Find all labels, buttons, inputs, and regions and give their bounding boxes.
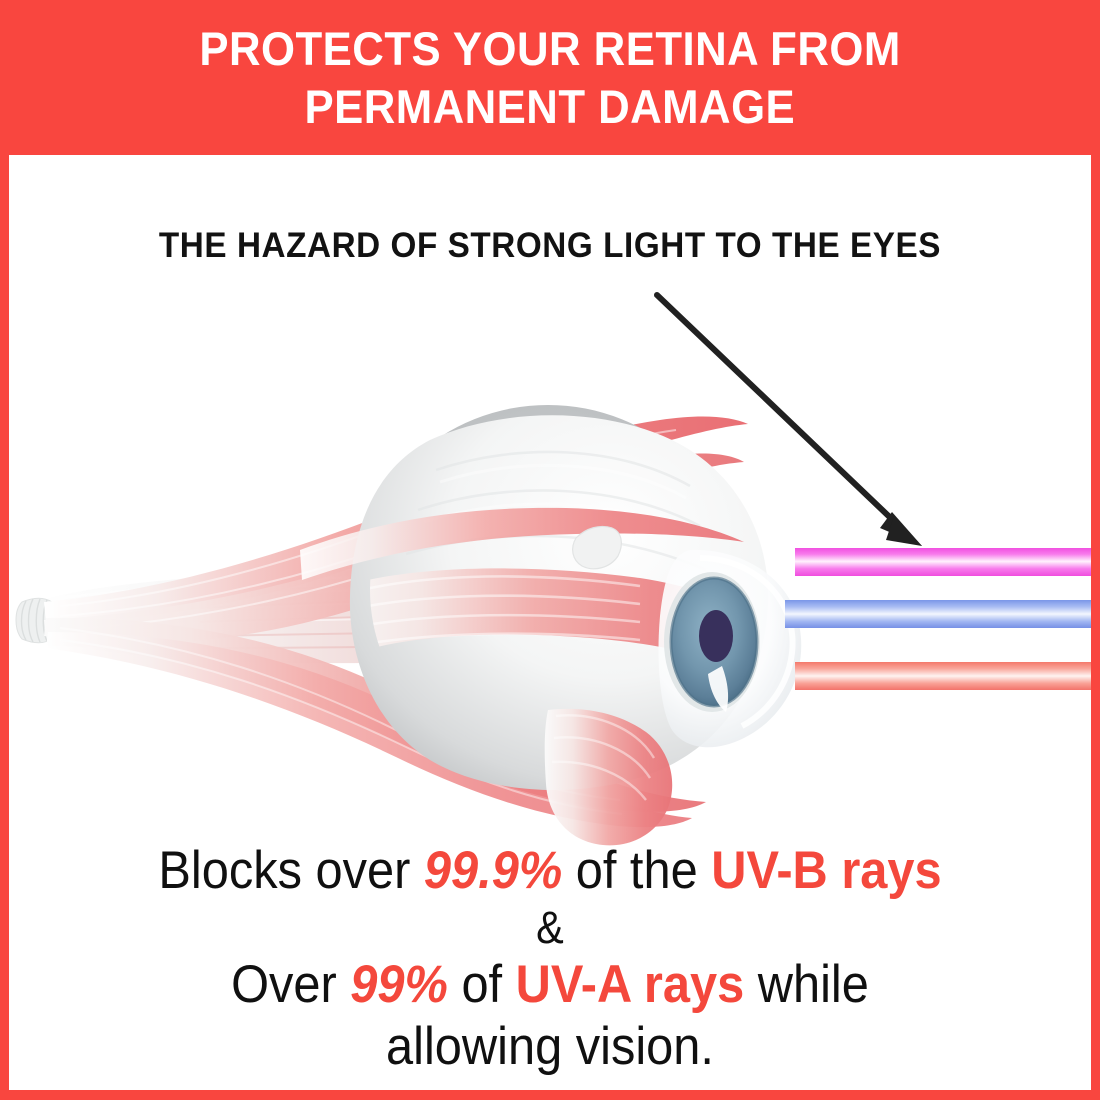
sub-headline: THE HAZARD OF STRONG LIGHT TO THE EYES <box>28 226 1073 266</box>
claim-uva-percent: 99% <box>350 955 448 1014</box>
claim-uvb-middle: of the <box>562 841 711 900</box>
header-line-1: PROTECTS YOUR RETINA FROM <box>199 20 900 78</box>
frame-border-right <box>1091 0 1100 1100</box>
claim-uvb-prefix: Blocks over <box>158 841 424 900</box>
claim-line-uva: Over 99% of UV-A rays while <box>44 954 1056 1016</box>
claim-line-vision: allowing vision. <box>44 1016 1056 1078</box>
claim-uvb-rays: UV-B rays <box>711 841 941 900</box>
claim-uvb-percent: 99.9% <box>424 841 562 900</box>
claim-uva-suffix: while <box>744 955 869 1014</box>
claim-line-uvb: Blocks over 99.9% of the UV-B rays <box>44 840 1056 902</box>
claims-block: Blocks over 99.9% of the UV-B rays & Ove… <box>0 840 1100 1078</box>
beam-salmon <box>795 662 1100 690</box>
header-line-2: PERMANENT DAMAGE <box>305 78 796 136</box>
beam-blue <box>785 600 1100 628</box>
frame-border-bottom <box>0 1090 1100 1100</box>
claim-uva-prefix: Over <box>231 955 350 1014</box>
pupil <box>699 610 733 662</box>
frame-border-left <box>0 0 9 1100</box>
claim-ampersand: & <box>44 902 1056 954</box>
iris <box>664 572 760 712</box>
claim-uva-middle: of <box>448 955 516 1014</box>
header-banner: PROTECTS YOUR RETINA FROM PERMANENT DAMA… <box>0 0 1100 155</box>
infographic-poster: PROTECTS YOUR RETINA FROM PERMANENT DAMA… <box>0 0 1100 1100</box>
claim-uva-rays: UV-A rays <box>516 955 745 1014</box>
beam-magenta <box>795 548 1100 576</box>
light-beams <box>785 548 1100 690</box>
